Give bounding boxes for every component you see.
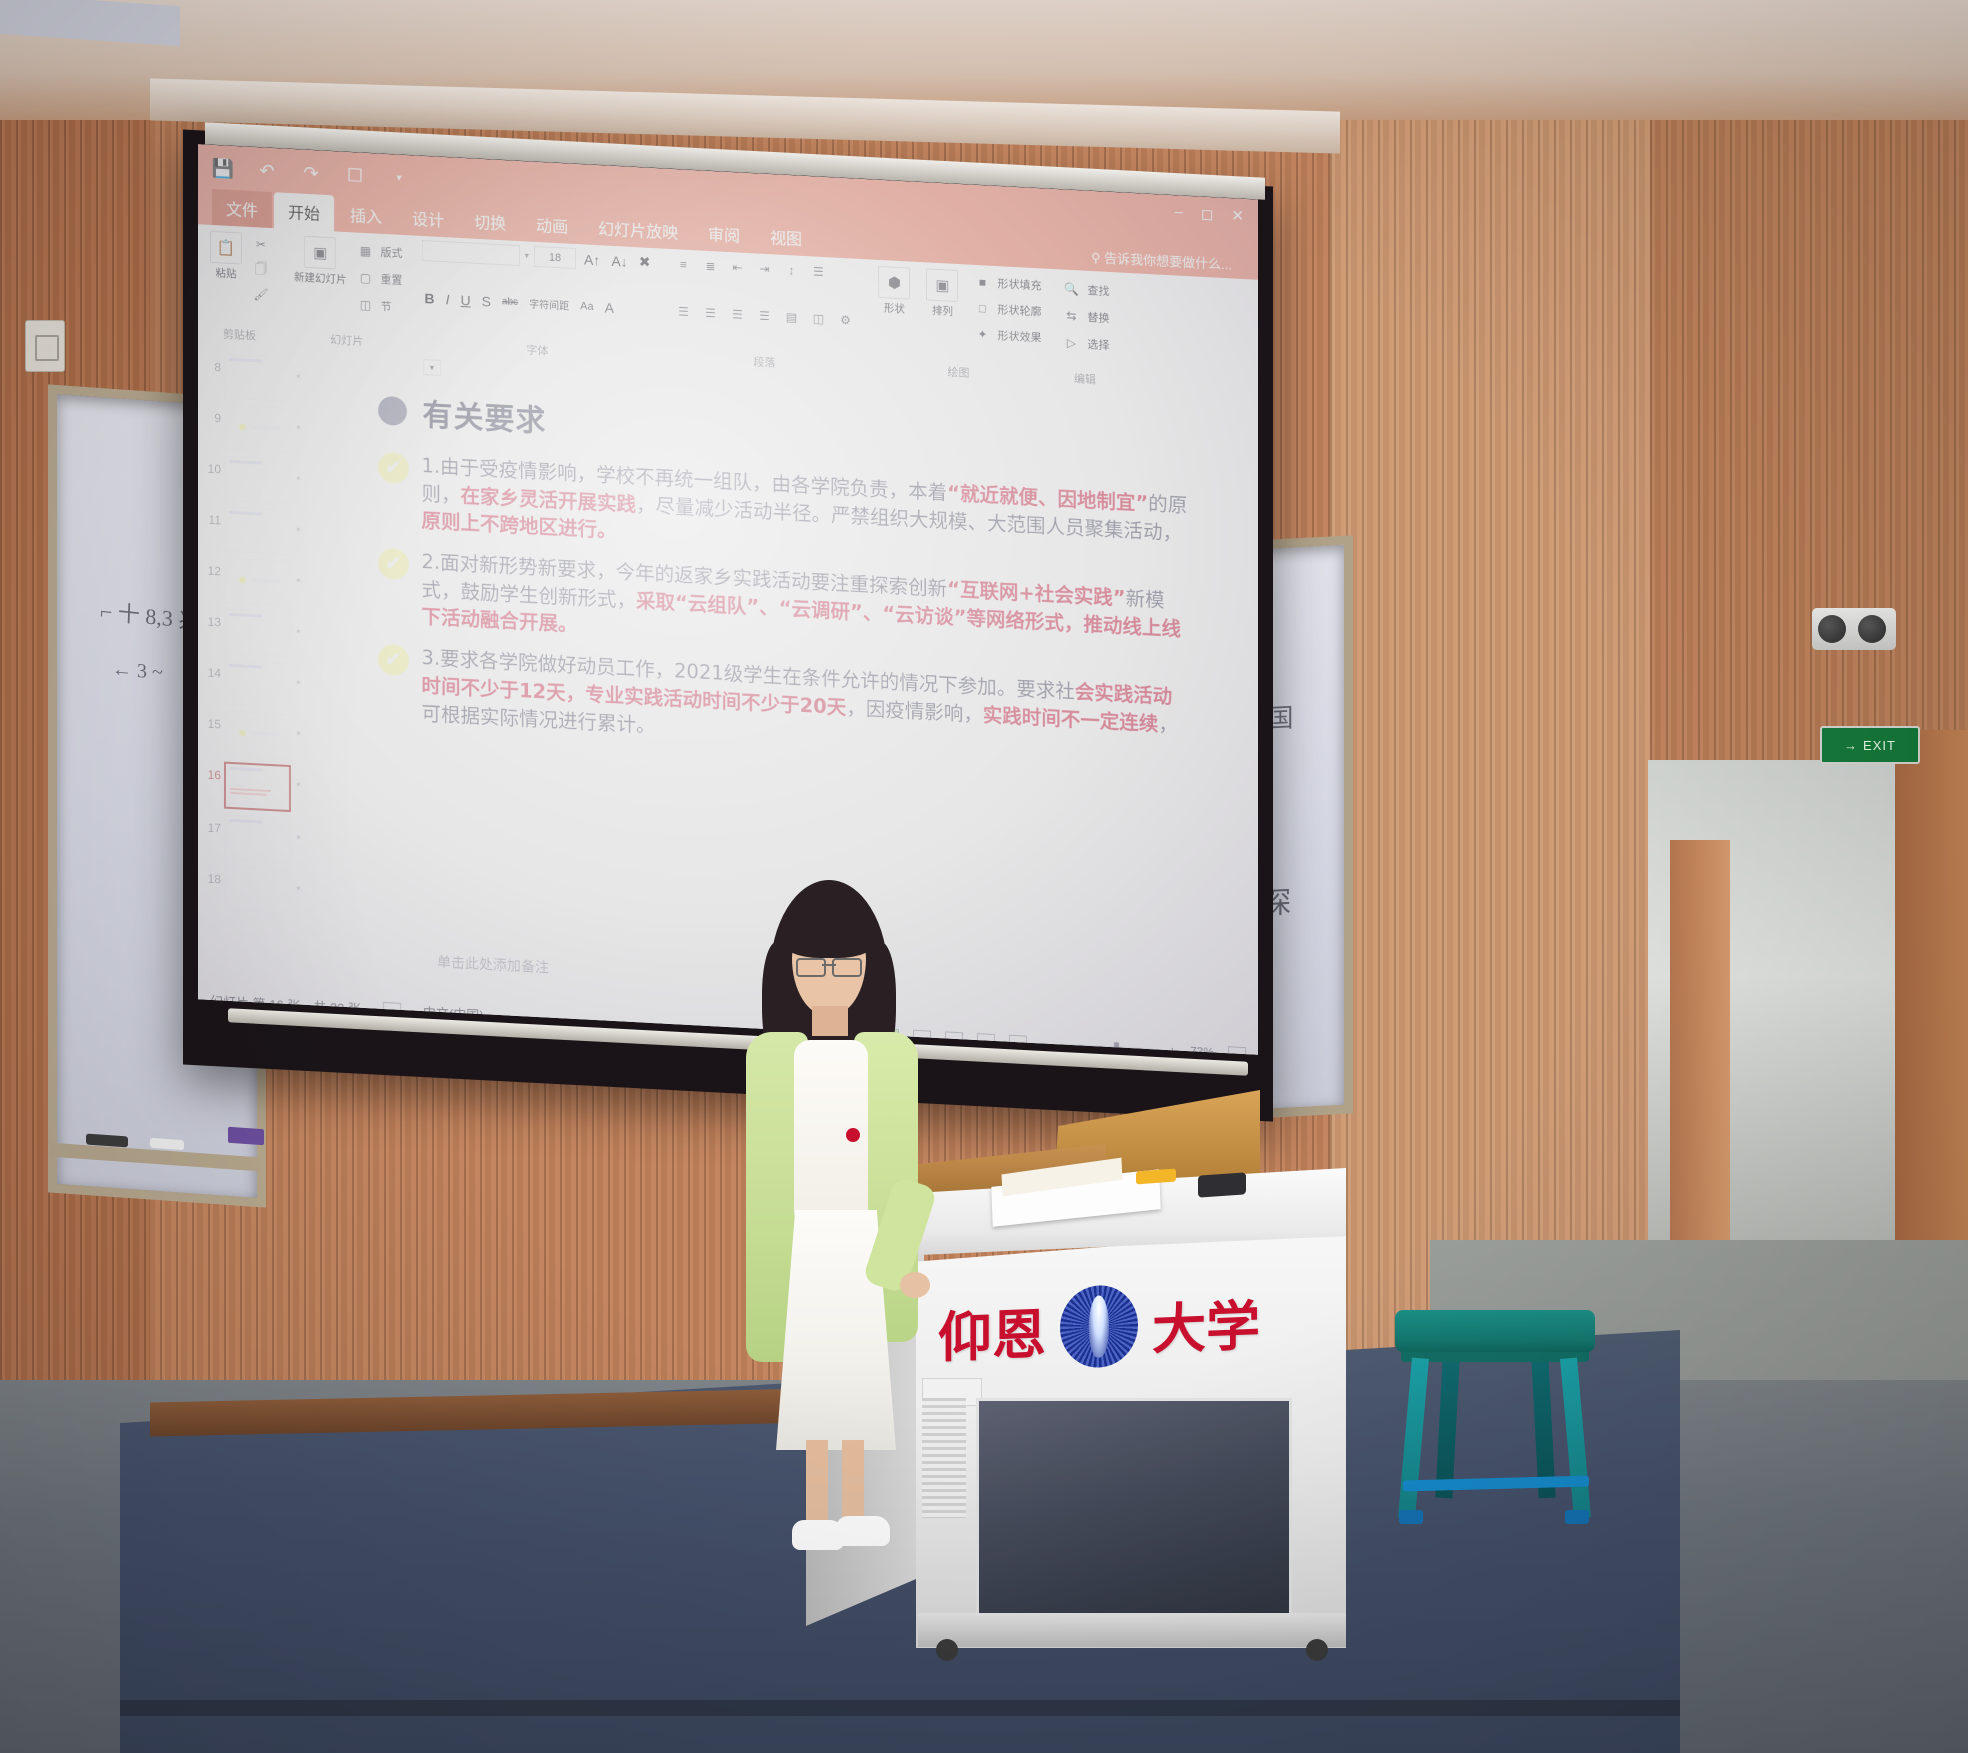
stool-leg-front-right [1560,1358,1591,1519]
decrease-font-icon[interactable]: A↓ [608,252,630,269]
new-slide-icon: ▣ [304,236,336,270]
slide-thumbnail-preview[interactable] [224,558,291,607]
tab-design[interactable]: 设计 [398,199,458,238]
select-label: 选择 [1087,336,1109,353]
editing-group-label: 编辑 [1060,367,1109,388]
tab-transitions[interactable]: 切换 [460,202,520,241]
section-icon: ◫ [355,293,377,316]
slide-thumbnail-number: 11 [202,505,221,527]
ribbon-group-paragraph: ≡ ≣ ⇤ ⇥ ↕ ☰ ☰ ☰ ☰ ☰ ▤ ◫ ⚙ [663,249,866,378]
slide-thumbnail-preview[interactable] [224,609,291,658]
exit-arrow-icon: → [1844,738,1858,753]
party-badge [846,1128,860,1142]
presenter-remote[interactable] [1198,1172,1246,1197]
ribbon-group-drawing: ⬢ 形状 ▣ 排列 ■ 形状填充 [866,259,1051,387]
slide-transition-star-icon: ✶ [294,561,302,586]
close-icon[interactable]: ✕ [1231,206,1244,225]
align-center-icon[interactable]: ☰ [699,302,721,325]
slide-thumbnail-number: 8 [202,352,221,374]
replace-label: 替换 [1087,309,1109,326]
left-leg [806,1440,828,1532]
slide-thumbnail[interactable]: 17✶ [198,810,306,867]
normal-run: ，因疫情影响， [846,696,983,726]
slide-transition-star-icon: ✶ [294,818,302,843]
shape-fill-button[interactable]: ■ 形状填充 [971,271,1041,297]
justify-icon[interactable]: ☰ [753,304,775,327]
door-frame [1895,730,1968,1260]
find-label: 查找 [1087,282,1109,299]
select-icon: ▷ [1060,331,1082,354]
bullets-icon[interactable]: ≡ [672,253,694,276]
slide-thumbnail-preview[interactable] [224,660,291,709]
increase-indent-icon[interactable]: ⇥ [753,257,775,280]
tab-file[interactable]: 文件 [212,189,272,228]
slide-transition-star-icon: ✶ [294,408,302,433]
section-button[interactable]: ◫ 节 [355,293,403,318]
restore-icon[interactable]: ◻ [1201,205,1213,224]
bold-button[interactable]: B [422,289,438,306]
text-direction-icon[interactable]: ☰ [807,260,829,283]
slide-thumbnail-number: 9 [202,403,221,425]
caster-wheel-right [1306,1639,1328,1661]
slide-thumbnail[interactable]: 9✶ [198,400,306,457]
slide-thumbnail-preview[interactable] [224,866,291,915]
search-icon: 🔍 [1060,277,1082,300]
slide-thumbnail-preview[interactable] [224,711,291,760]
slide-thumbnail-number: 17 [202,813,221,835]
check-circle-icon: ✔ [378,452,409,485]
slide-transition-star-icon: ✶ [294,663,302,688]
whiteboard-note-1: ← 3 ~ [112,658,163,685]
slide-thumbnail[interactable]: 13✶ [198,604,306,661]
lectern-monitor[interactable] [976,1398,1292,1619]
columns-icon[interactable]: ▤ [780,306,802,329]
slide-thumbnail-preview[interactable] [224,815,291,864]
stool-crossbar [1403,1476,1589,1492]
numbering-icon[interactable]: ≣ [699,255,721,278]
slide-thumbnail-panel[interactable]: 8✶9✶10✶11✶12✶13✶14✶15✶16✶17✶18✶ [198,343,307,991]
slide-thumbnail[interactable]: 15✶ [198,706,306,763]
reset-button[interactable]: ▢ 重置 [355,266,403,291]
font-name-input[interactable] [422,240,520,266]
whiteboard-eraser[interactable] [228,1127,264,1146]
check-circle-icon: ✔ [378,644,409,677]
stool-seat [1395,1310,1595,1352]
layout-icon: ▦ [355,239,377,262]
tell-me-placeholder: 告诉我你想要做什么... [1104,251,1232,273]
sunburst-emblem-icon [1060,1284,1138,1369]
emphasis-run: 实践时间不一定连续 [983,703,1159,735]
slide-transition-star-icon: ✶ [294,510,302,535]
slide-transition-star-icon: ✶ [294,869,302,894]
plastic-stool[interactable] [1395,1310,1595,1525]
slide-thumbnail-preview[interactable] [224,507,291,556]
exit-sign-label: EXIT [1863,738,1896,753]
logo-text-right: 大学 [1152,1281,1260,1364]
slide-thumbnail[interactable]: 18✶ [198,861,306,918]
slide-thumbnail[interactable]: 11✶ [198,502,306,559]
slide-thumbnail-preview[interactable] [224,762,291,813]
slide-thumbnail-preview[interactable] [224,456,291,505]
shape-outline-button[interactable]: □ 形状轮廓 [971,297,1041,323]
stool-leg-back-left [1435,1358,1459,1499]
font-color-button[interactable]: A [602,299,617,316]
slide-transition-star-icon: ✶ [294,612,302,637]
font-name-chevron-icon[interactable]: ▾ [525,250,530,261]
copy-icon[interactable]: 🗍 [250,258,272,281]
shapes-icon: ⬢ [878,266,910,300]
slide-thumbnail[interactable]: 14✶ [198,655,306,712]
undo-icon[interactable]: ↶ [256,159,278,182]
section-label: 节 [381,298,392,315]
slide-transition-star-icon: ✶ [294,357,302,382]
stage-edge [120,1700,1680,1716]
chevron-down-icon[interactable]: ▾ [388,166,410,189]
arrange-icon: ▣ [926,268,958,302]
right-hand [900,1272,930,1298]
power-socket[interactable] [25,320,65,372]
strikethrough-button[interactable]: abc [499,296,521,308]
replace-icon: ⇆ [1060,304,1082,327]
redo-icon[interactable]: ↷ [300,162,322,185]
slide-transition-star-icon: ✶ [294,714,302,739]
tab-slideshow[interactable]: 幻灯片放映 [584,208,692,250]
window-controls[interactable]: ‒ ◻ ✕ [1175,203,1244,225]
new-slide-button[interactable]: ▣ 新建幻灯片 [291,233,350,289]
caster-wheel-left [936,1639,958,1661]
exit-sign: → EXIT [1820,726,1920,764]
clear-formatting-icon[interactable]: ✖ [636,253,654,271]
emphasis-run: “互联网+社会实践” [947,578,1125,610]
slide-thumbnail-preview[interactable] [224,354,291,403]
align-text-icon[interactable]: ◫ [807,307,829,330]
cut-icon[interactable]: ✂ [250,233,272,256]
decrease-indent-icon[interactable]: ⇤ [726,256,748,279]
tell-me-search[interactable]: ⚲ 告诉我你想要做什么... [1091,247,1232,273]
tab-view[interactable]: 视图 [756,217,816,256]
shape-outline-icon: □ [971,297,993,320]
increase-font-icon[interactable]: A↑ [581,251,603,268]
tab-animations[interactable]: 动画 [522,205,582,244]
slide-canvas[interactable]: 有关要求 ✔1.由于受疫情影响，学校不再统一组队，由各学院负责，本着“就近就便、… [343,359,1223,915]
slide-thumbnail[interactable]: 10✶ [198,451,306,508]
shapes-label: 形状 [884,300,905,316]
convert-smartart-icon[interactable]: ⚙ [834,309,856,332]
arrange-label: 排列 [932,303,953,319]
lectern-base [918,1613,1346,1647]
slide-thumbnail-number: 13 [202,607,221,629]
shape-outline-label: 形状轮廓 [997,301,1041,319]
slide-thumbnail[interactable]: 12✶ [198,553,306,610]
paste-button[interactable]: 📋 粘贴 [207,229,245,284]
shape-effects-button[interactable]: ✦ 形状效果 [971,323,1041,349]
slide-body-block[interactable]: ✔1.由于受疫情影响，学校不再统一组队，由各学院负责，本着“就近就便、因地制宜”… [378,450,1188,768]
save-icon[interactable]: 💾 [212,157,234,180]
tab-insert[interactable]: 插入 [336,195,396,234]
shape-effects-icon: ✦ [971,323,993,346]
reset-icon: ▢ [355,266,377,289]
tab-review[interactable]: 审阅 [694,214,754,253]
change-case-button[interactable]: Aa [577,300,596,313]
emergency-light-icon [1812,608,1896,650]
paste-label: 粘贴 [216,265,237,281]
stool-foot-right [1565,1510,1589,1524]
replace-button[interactable]: ⇆ 替换 [1060,304,1109,329]
line-spacing-icon[interactable]: ↕ [780,259,802,282]
title-bullet-icon [378,395,407,426]
notes-collapse-icon[interactable]: ▾ [423,359,441,376]
reset-label: 重置 [381,271,403,288]
slide-thumbnail-number: 15 [202,709,221,731]
layout-button[interactable]: ▦ 版式 [355,239,403,264]
stool-foot-left [1399,1510,1423,1524]
shape-fill-icon: ■ [971,271,993,294]
ribbon-group-slides: ▣ 新建幻灯片 ▦ 版式 ▢ 重置 [282,229,413,354]
find-button[interactable]: 🔍 查找 [1060,277,1109,302]
slide-thumbnail-number: 14 [202,658,221,680]
shape-fill-label: 形状填充 [997,275,1041,293]
door-panel[interactable] [1670,840,1730,1240]
shadow-button[interactable]: S [479,292,494,309]
highlighter-pen[interactable] [1136,1169,1176,1185]
slide-title-text: 有关要求 [423,390,547,440]
ribbon-group-clipboard: 📋 粘贴 ✂ 🗍 🖌 剪贴板 [198,224,282,346]
select-button[interactable]: ▷ 选择 [1060,331,1109,356]
align-right-icon[interactable]: ☰ [726,303,748,326]
slide-thumbnail-number: 16 [202,760,221,782]
ribbon-group-font: ▾ 18 A↑ A↓ ✖ B I U S abc 字符间距 Aa A [413,235,664,366]
character-spacing-button[interactable]: 字符间距 [526,295,572,312]
minimize-icon[interactable]: ‒ [1175,203,1183,221]
shapes-button[interactable]: ⬢ 形状 [875,264,913,319]
right-shoe [836,1516,890,1546]
format-painter-icon[interactable]: 🖌 [250,283,272,306]
paste-icon: 📋 [210,231,242,265]
lecture-hall-photo: → EXIT ⌐ 十 8,3 兆号 ← 3 ~ 1 ∫ 亢旋 1/2 ⌐⌐ 国 … [0,0,1968,1753]
align-left-icon[interactable]: ☰ [672,300,694,323]
clipboard-group-label: 剪贴板 [207,323,272,344]
shape-effects-label: 形状效果 [997,327,1041,345]
presenter [718,880,948,1580]
stool-leg-front-left [1398,1358,1429,1519]
layout-label: 版式 [381,244,403,261]
slide-thumbnail[interactable]: 16✶ [198,757,306,816]
slide-thumbnail[interactable]: 8✶ [198,349,306,406]
glasses-icon [796,958,862,974]
ribbon-group-editing: 🔍 查找 ⇆ 替换 ▷ 选择 编辑 [1051,269,1118,391]
emphasis-run: 原则上不跨地区进行。 [422,509,617,542]
arrange-button[interactable]: ▣ 排列 [923,266,961,321]
slide-thumbnail-number: 10 [202,454,221,476]
logo-text-left: 仰恩 [938,1289,1046,1372]
slide-transition-star-icon: ✶ [294,459,302,484]
check-circle-icon: ✔ [378,548,409,581]
underline-button[interactable]: U [458,291,474,308]
new-slide-label: 新建幻灯片 [294,269,347,287]
university-logo: 仰恩 大学 [938,1272,1338,1377]
emphasis-run: 在家乡灵活开展实践 [461,484,637,516]
tab-home[interactable]: 开始 [274,192,334,231]
slide-thumbnail-preview[interactable] [224,405,291,454]
italic-button[interactable]: I [443,291,453,308]
presentation-icon[interactable]: ☐ [344,164,366,187]
slide-thumbnail-number: 12 [202,556,221,578]
font-size-input[interactable]: 18 [534,246,576,269]
slides-group-label: 幻灯片 [291,327,403,351]
slide-thumbnail-number: 18 [202,864,221,886]
slide-transition-star-icon: ✶ [294,765,302,790]
